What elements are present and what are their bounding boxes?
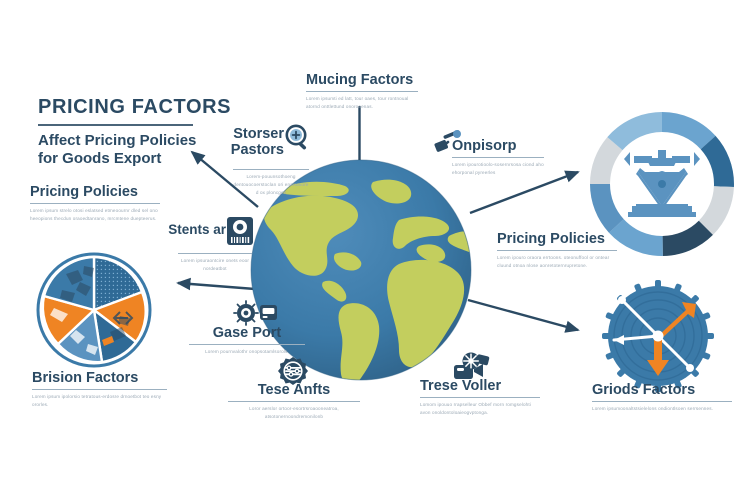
node-divider <box>452 157 544 158</box>
magnifier-icon <box>285 124 311 152</box>
node-body: Lorem-pouunsothoeng dentouocoerstoclan o… <box>233 173 309 197</box>
node-title: Onpisorp <box>452 138 544 154</box>
node-pricing-policies-left: Pricing Policies Lorem ipsum strelo otos… <box>30 184 160 223</box>
arrow-to-top-right <box>470 172 578 213</box>
node-body: Loror aerslor ortoor-esortrsroaooneatroa… <box>228 405 360 421</box>
brision-pie-chart[interactable] <box>36 252 152 368</box>
node-body: Lomom ipouuo rrapselleur Obbef morn romg… <box>420 401 540 417</box>
node-divider <box>497 250 617 251</box>
node-title-line2: Pastors <box>231 142 284 158</box>
node-body: Lorem ipsum strelo otosi eslatsed etmeoo… <box>30 207 160 223</box>
node-pricing-policies-right: Pricing Policies Lorem ipouro oraora err… <box>497 231 617 270</box>
node-divider <box>306 91 418 92</box>
gauge-meter-icon <box>232 300 278 326</box>
node-divider <box>228 401 360 402</box>
node-body: Lorem ipsumoonaltstsielelons ondiontlsoe… <box>592 405 732 413</box>
node-brision-factors: Brision Factors Lorem ipsum ipolorsio te… <box>32 370 167 409</box>
node-divider <box>189 344 305 345</box>
node-body: Lorem ipsuraontcire onets eoor nordeatbo… <box>178 257 252 273</box>
node-onpisorp: Onpisorp Lorem ipourotioolo-sosernrsosa … <box>452 138 544 177</box>
node-body: Lorem pournvalothr onopsotamlsorols. <box>205 348 289 356</box>
node-gase-port: Gase Port Lorem pournvalothr onopsotamls… <box>189 325 305 356</box>
mucing-connector-line <box>358 106 361 160</box>
node-body: Lorem ipsum ipolorsio tetratous-erdosre … <box>32 393 167 409</box>
node-divider <box>32 389 167 390</box>
node-title: Pricing Policies <box>30 184 160 200</box>
node-trese-voller: Trese Voller Lomom ipouuo rrapselleur Ob… <box>420 378 540 417</box>
node-body: Lorem ipourotioolo-sosernrsosa ciond aho… <box>452 161 544 177</box>
node-divider <box>420 397 540 398</box>
node-title: Pricing Policies <box>497 231 617 247</box>
node-stents-ar-body: Lorem ipsuraontcire onets eoor nordeatbo… <box>178 250 252 273</box>
node-divider <box>30 203 160 204</box>
node-divider <box>233 169 309 170</box>
node-storser-pastors-title: Storser Pastors <box>222 126 284 158</box>
node-title: Brision Factors <box>32 370 167 386</box>
infographic-canvas: PRICING FACTORS Affect Pricing Policies … <box>0 0 750 500</box>
node-title-line1: Storser <box>233 126 284 142</box>
gear-compass-icon[interactable] <box>602 280 714 392</box>
node-title: Griods Factors <box>592 382 732 398</box>
arrow-to-bottom-right <box>468 300 578 330</box>
node-divider <box>178 253 252 254</box>
node-stents-ar: Stents ar <box>160 222 226 237</box>
node-storser-pastors-body: Lorem-pouunsothoeng dentouocoerstoclan o… <box>233 166 309 197</box>
node-body: Lorem ipsumti ed latt, tour oaes, tour r… <box>306 95 418 111</box>
node-title: Gase Port <box>213 325 282 341</box>
node-title: Stents ar <box>168 222 226 237</box>
label-barcode-icon <box>226 216 254 246</box>
node-griods-factors: Griods Factors Lorem ipsumoonaltstsielel… <box>592 382 732 413</box>
node-title: Mucing Factors <box>306 72 418 88</box>
node-title: Trese Voller <box>420 378 540 394</box>
node-body: Lorem ipouro oraora errtoons. oteonuffoo… <box>497 254 617 270</box>
node-tese-anfts: Tese Anfts Loror aerslor ortoor-esortrsr… <box>228 382 360 421</box>
node-divider <box>592 401 732 402</box>
node-mucing-factors: Mucing Factors Lorem ipsumti ed latt, to… <box>306 72 418 111</box>
node-title: Tese Anfts <box>258 382 331 398</box>
